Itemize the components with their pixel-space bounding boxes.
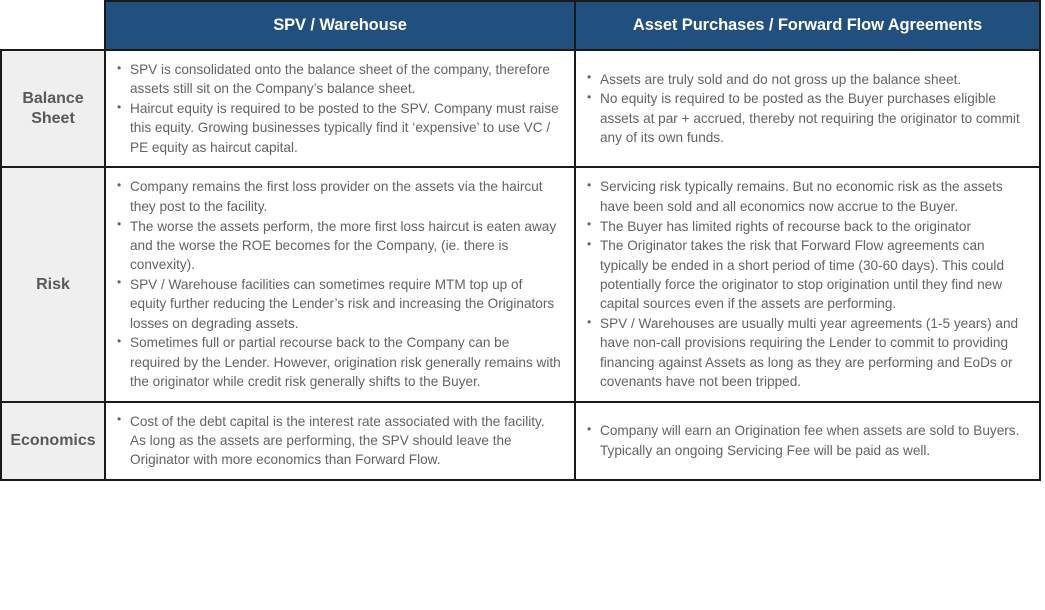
- corner-cell: [1, 1, 105, 50]
- table-row: Risk Company remains the first loss prov…: [1, 167, 1040, 401]
- cell-balance-sheet-spv: SPV is consolidated onto the balance she…: [105, 50, 575, 167]
- list-item: Servicing risk typically remains. But no…: [586, 177, 1027, 216]
- bullet-list: Cost of the debt capital is the interest…: [116, 412, 562, 470]
- bullet-list: Company remains the first loss provider …: [116, 177, 562, 391]
- row-label-balance-sheet: Balance Sheet: [1, 50, 105, 167]
- column-header-spv-warehouse: SPV / Warehouse: [105, 1, 575, 50]
- cell-risk-afa: Servicing risk typically remains. But no…: [575, 167, 1040, 401]
- cell-risk-spv: Company remains the first loss provider …: [105, 167, 575, 401]
- list-item: The worse the assets perform, the more f…: [116, 217, 562, 275]
- row-label-economics: Economics: [1, 402, 105, 480]
- list-item: Company will earn an Origination fee whe…: [586, 421, 1027, 460]
- cell-balance-sheet-afa: Assets are truly sold and do not gross u…: [575, 50, 1040, 167]
- table-row: Economics Cost of the debt capital is th…: [1, 402, 1040, 480]
- comparison-table: SPV / Warehouse Asset Purchases / Forwar…: [0, 0, 1041, 481]
- table-header: SPV / Warehouse Asset Purchases / Forwar…: [1, 1, 1040, 50]
- row-label-risk: Risk: [1, 167, 105, 401]
- bullet-list: Servicing risk typically remains. But no…: [586, 177, 1027, 391]
- cell-economics-afa: Company will earn an Origination fee whe…: [575, 402, 1040, 480]
- table-row: Balance Sheet SPV is consolidated onto t…: [1, 50, 1040, 167]
- list-item: Company remains the first loss provider …: [116, 177, 562, 216]
- cell-economics-spv: Cost of the debt capital is the interest…: [105, 402, 575, 480]
- list-item: SPV / Warehouse facilities can sometimes…: [116, 275, 562, 333]
- list-item: The Buyer has limited rights of recourse…: [586, 217, 1027, 236]
- list-item: SPV is consolidated onto the balance she…: [116, 60, 562, 99]
- list-item: No equity is required to be posted as th…: [586, 89, 1027, 147]
- list-item: The Originator takes the risk that Forwa…: [586, 236, 1027, 313]
- bullet-list: Company will earn an Origination fee whe…: [586, 421, 1027, 460]
- list-item: SPV / Warehouses are usually multi year …: [586, 314, 1027, 391]
- list-item: Cost of the debt capital is the interest…: [116, 412, 562, 470]
- list-item: Assets are truly sold and do not gross u…: [586, 70, 1027, 89]
- bullet-list: SPV is consolidated onto the balance she…: [116, 60, 562, 157]
- bullet-list: Assets are truly sold and do not gross u…: [586, 70, 1027, 148]
- list-item: Haircut equity is required to be posted …: [116, 99, 562, 157]
- column-header-asset-purchases-forward-flow: Asset Purchases / Forward Flow Agreement…: [575, 1, 1040, 50]
- header-row: SPV / Warehouse Asset Purchases / Forwar…: [1, 1, 1040, 50]
- list-item: Sometimes full or partial recourse back …: [116, 333, 562, 391]
- table-body: Balance Sheet SPV is consolidated onto t…: [1, 50, 1040, 480]
